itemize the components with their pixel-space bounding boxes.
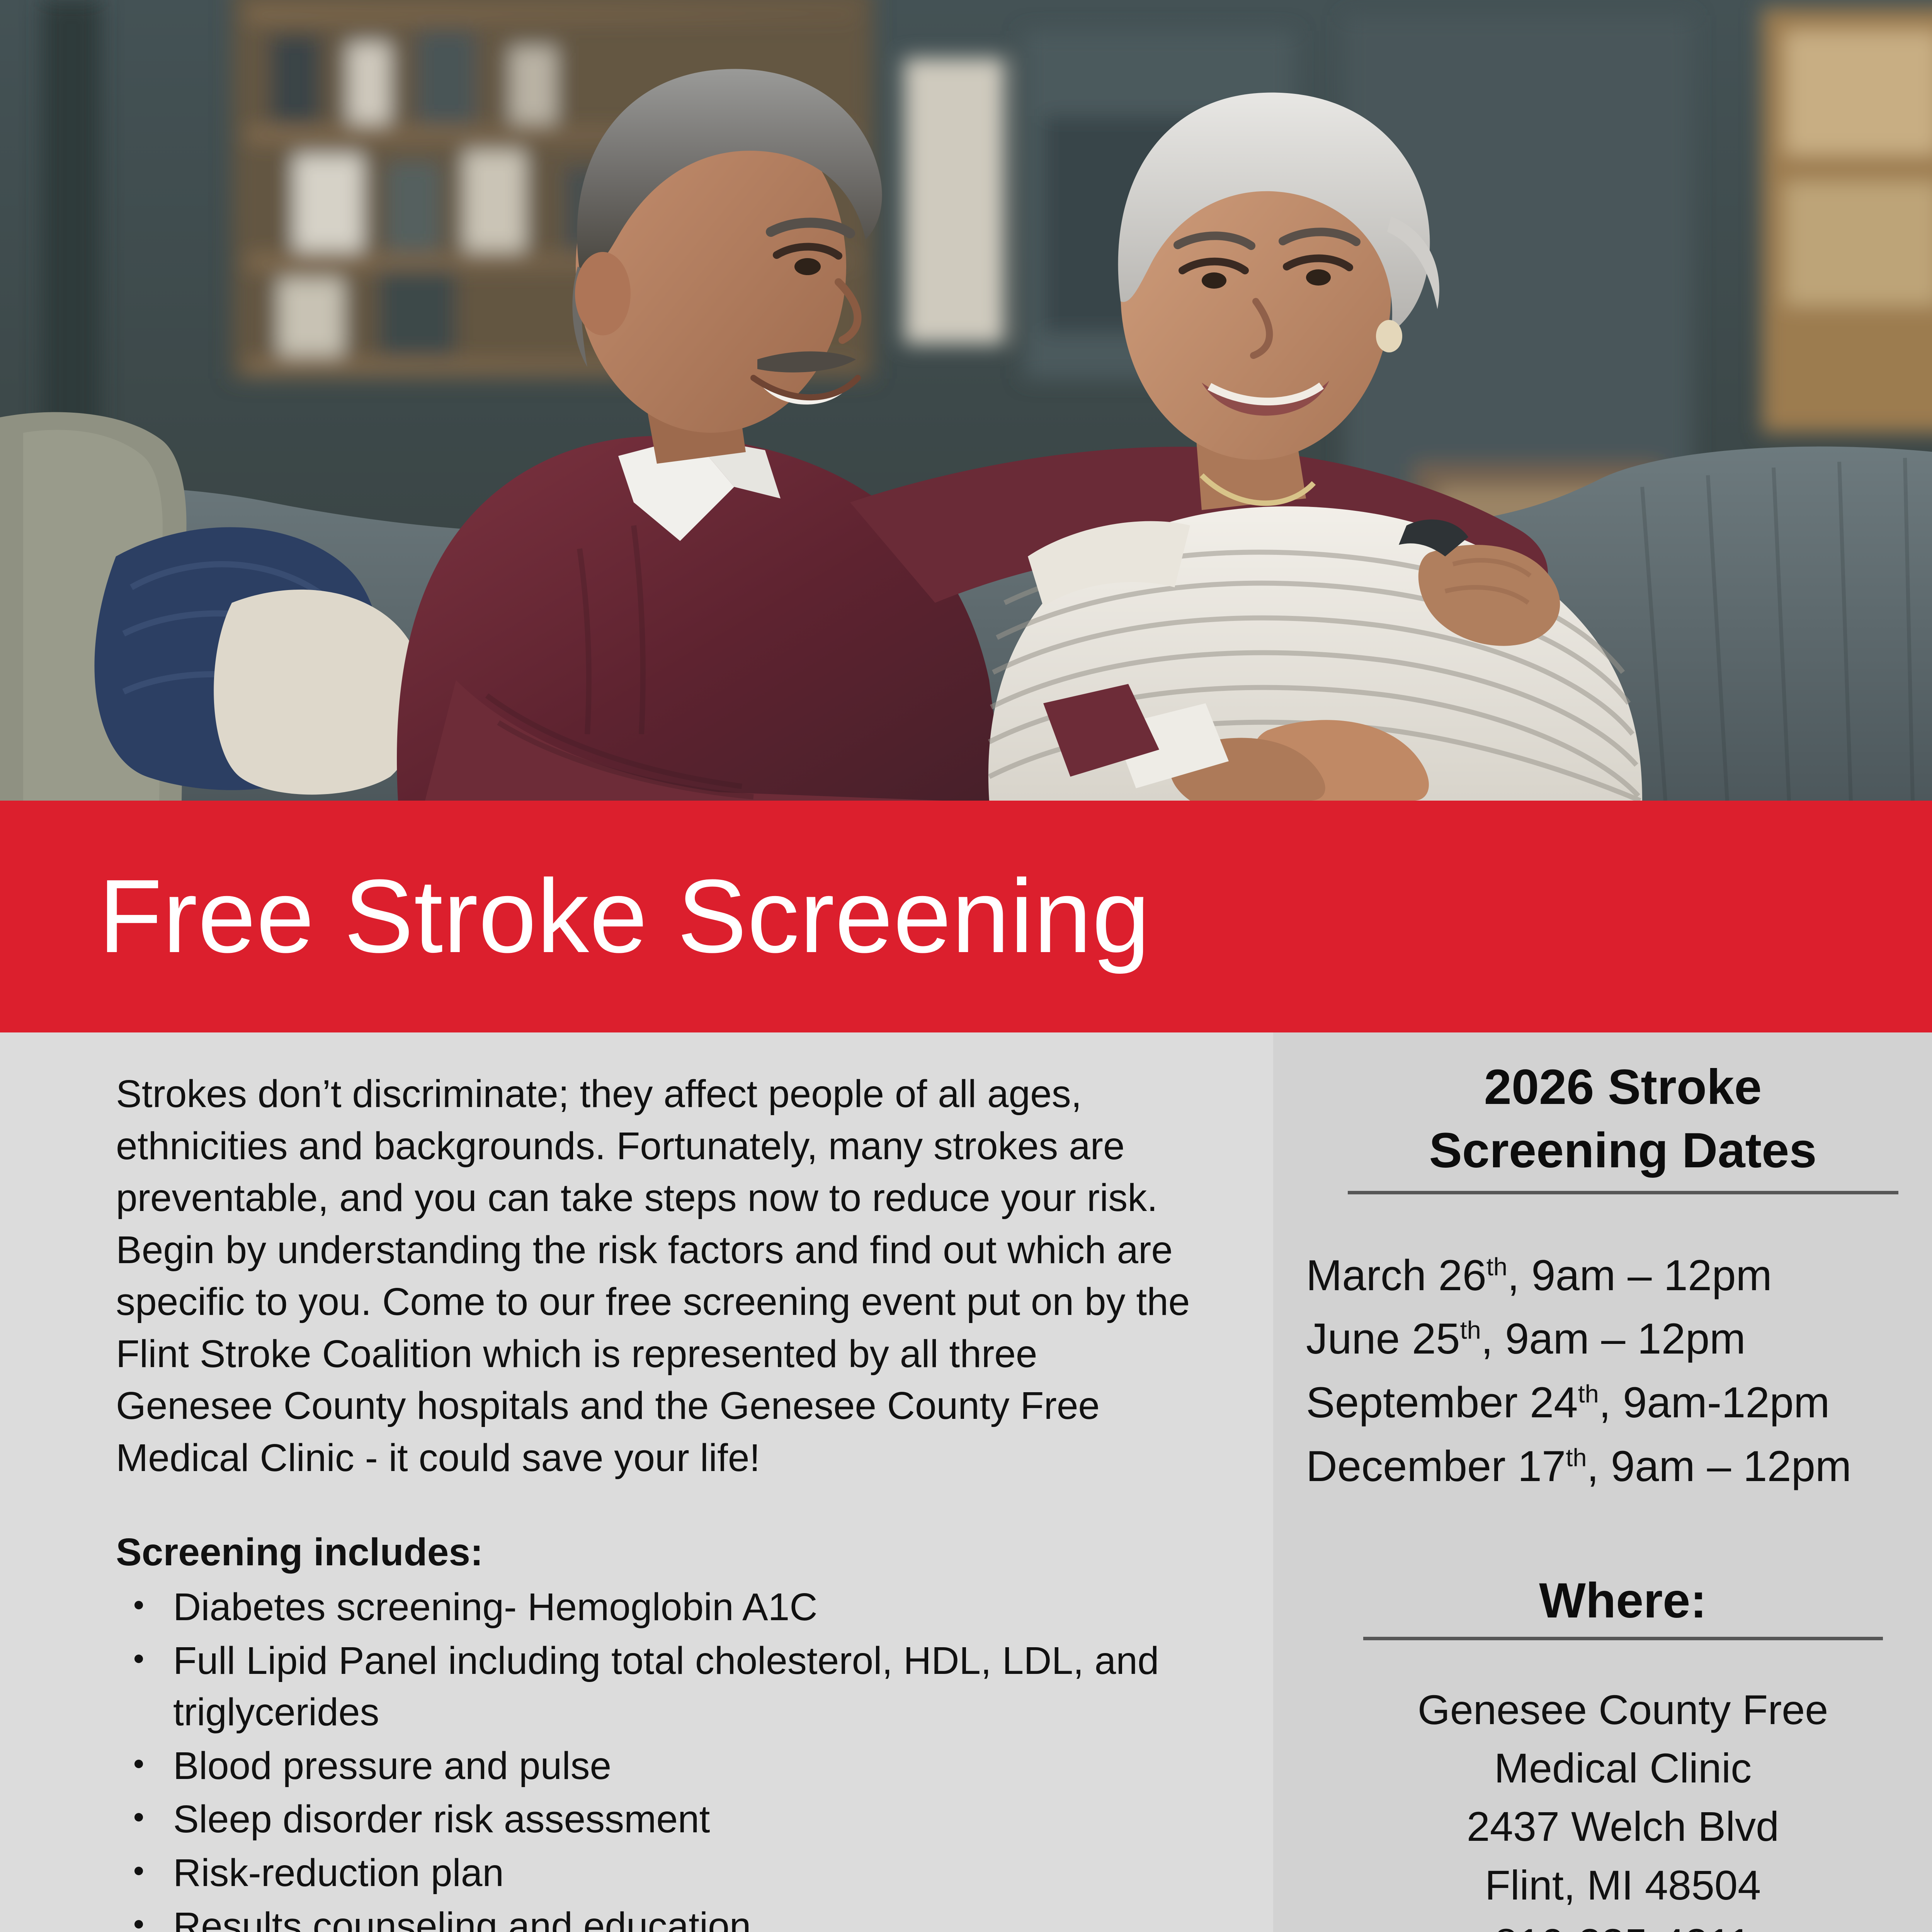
date-month: March: [1306, 1251, 1426, 1299]
date-entry: December 17th, 9am – 12pm: [1306, 1435, 1932, 1498]
list-item-label: Full Lipid Panel including total cholest…: [173, 1639, 1159, 1734]
phone-number[interactable]: 810-235-4211: [1279, 1914, 1932, 1932]
list-item: Blood pressure and pulse: [116, 1740, 1194, 1792]
bullet-icon: [134, 1813, 143, 1821]
date-ordinal: th: [1566, 1443, 1587, 1471]
clinic-address: Genesee County Free Medical Clinic 2437 …: [1279, 1640, 1932, 1932]
screening-includes-list: Diabetes screening- Hemoglobin A1C Full …: [116, 1575, 1194, 1932]
date-time: , 9am-12pm: [1599, 1378, 1830, 1427]
date-month: June: [1306, 1315, 1400, 1363]
where-heading: Where:: [1279, 1498, 1932, 1628]
list-item: Full Lipid Panel including total cholest…: [116, 1635, 1194, 1738]
bullet-icon: [134, 1760, 143, 1768]
page-title: Free Stroke Screening: [0, 864, 1150, 969]
address-line: 2437 Welch Blvd: [1279, 1797, 1932, 1855]
date-ordinal: th: [1486, 1252, 1507, 1281]
dates-divider: [1348, 1191, 1898, 1194]
screening-dates-list: March 26th, 9am – 12pm June 25th, 9am – …: [1279, 1194, 1932, 1498]
date-day: 25: [1412, 1315, 1460, 1363]
bullet-icon: [134, 1601, 143, 1609]
bullet-icon: [134, 1920, 143, 1929]
date-month: December: [1306, 1442, 1506, 1490]
date-time: , 9am – 12pm: [1587, 1442, 1852, 1490]
list-item-label: Blood pressure and pulse: [173, 1744, 611, 1787]
dates-heading-line2: Screening Dates: [1302, 1119, 1932, 1182]
date-entry: September 24th, 9am-12pm: [1306, 1371, 1932, 1435]
bullet-icon: [134, 1655, 143, 1663]
intro-paragraph: Strokes don’t discriminate; they affect …: [116, 1068, 1194, 1484]
date-time: , 9am – 12pm: [1481, 1315, 1746, 1363]
bullet-icon: [134, 1867, 143, 1875]
date-ordinal: th: [1460, 1316, 1481, 1344]
date-month: September: [1306, 1378, 1518, 1427]
list-item: Diabetes screening- Hemoglobin A1C: [116, 1582, 1194, 1633]
address-line: Genesee County Free: [1279, 1680, 1932, 1739]
screening-includes-heading: Screening includes:: [116, 1484, 1194, 1575]
title-band: Free Stroke Screening: [0, 801, 1932, 1032]
dates-heading: 2026 Stroke Screening Dates: [1279, 1056, 1932, 1182]
date-entry: March 26th, 9am – 12pm: [1306, 1244, 1932, 1308]
list-item-label: Diabetes screening- Hemoglobin A1C: [173, 1585, 818, 1629]
address-line: Flint, MI 48504: [1279, 1856, 1932, 1914]
date-ordinal: th: [1578, 1380, 1599, 1408]
date-day: 17: [1518, 1442, 1566, 1490]
right-column: 2026 Stroke Screening Dates March 26th, …: [1279, 1056, 1932, 1932]
dates-heading-line1: 2026 Stroke: [1302, 1056, 1932, 1119]
list-item: Results counseling and education: [116, 1901, 1194, 1932]
left-column: Strokes don’t discriminate; they affect …: [116, 1068, 1194, 1932]
address-line: Medical Clinic: [1279, 1739, 1932, 1797]
date-entry: June 25th, 9am – 12pm: [1306, 1307, 1932, 1371]
where-divider: [1363, 1637, 1883, 1640]
flyer-page: Free Stroke Screening Strokes don’t disc…: [0, 0, 1932, 1932]
date-day: 24: [1530, 1378, 1578, 1427]
list-item-label: Results counseling and education: [173, 1905, 751, 1932]
list-item-label: Sleep disorder risk assessment: [173, 1798, 710, 1841]
hero-photo: [0, 0, 1932, 801]
date-day: 26: [1438, 1251, 1486, 1299]
list-item-label: Risk-reduction plan: [173, 1851, 504, 1895]
couple-photo-illustration: [0, 0, 1932, 801]
flyer-body: Strokes don’t discriminate; they affect …: [0, 1032, 1932, 1932]
date-time: , 9am – 12pm: [1507, 1251, 1772, 1299]
list-item: Risk-reduction plan: [116, 1847, 1194, 1899]
list-item: Sleep disorder risk assessment: [116, 1794, 1194, 1845]
